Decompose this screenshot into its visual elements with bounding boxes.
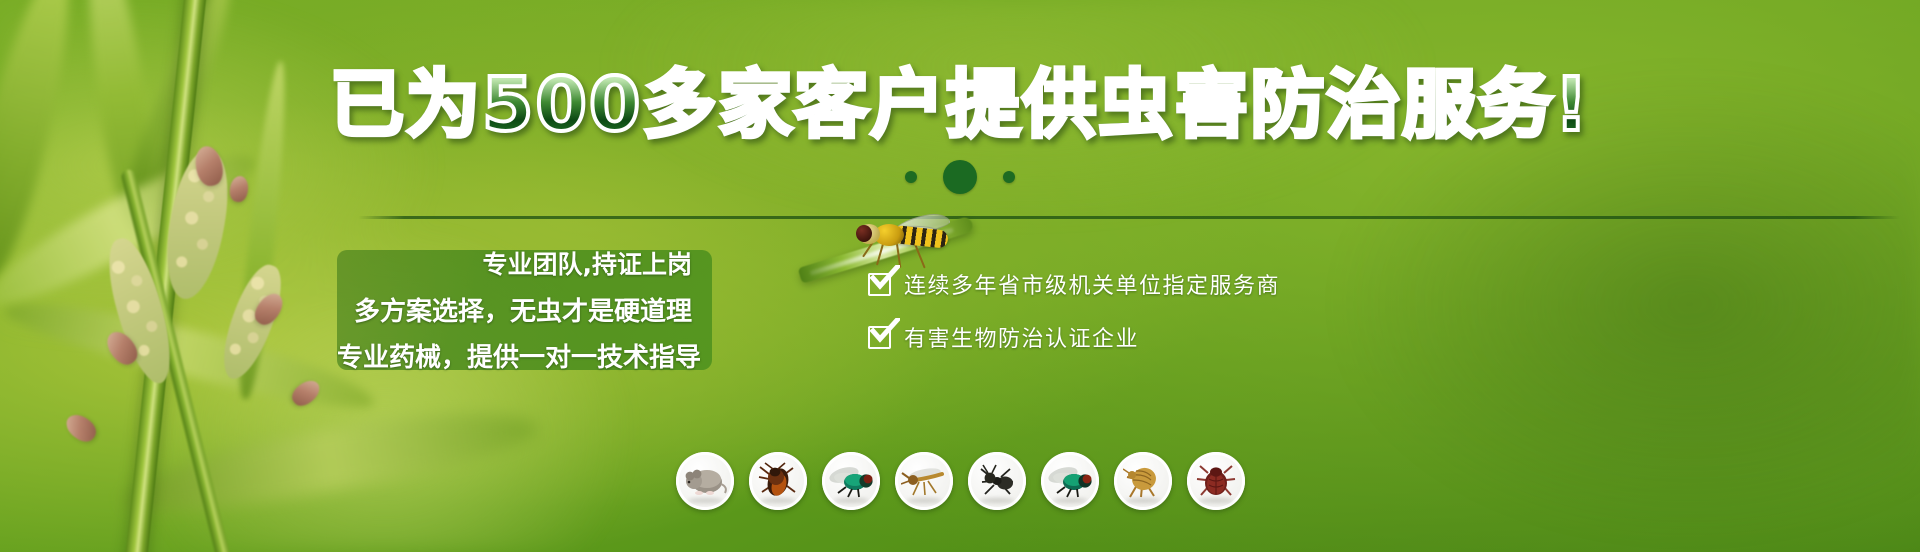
ant-icon bbox=[968, 452, 1026, 510]
blowfly-icon bbox=[1041, 452, 1099, 510]
checkbox-checked-icon bbox=[868, 326, 891, 349]
checklist-item: 有害生物防治认证企业 bbox=[868, 321, 1280, 353]
dot-small-right-icon bbox=[1003, 171, 1015, 183]
feature-checklist: 连续多年省市级机关单位指定服务商 有害生物防治认证企业 bbox=[868, 268, 1280, 374]
slogan-line-2: 多方案选择，无虫才是硬道理 bbox=[337, 291, 702, 328]
bedbug-icon bbox=[1187, 452, 1245, 510]
checklist-item-label: 有害生物防治认证企业 bbox=[904, 321, 1139, 353]
dot-large-center-icon bbox=[943, 160, 977, 194]
hoverfly-icon bbox=[852, 214, 956, 270]
checklist-item-label: 连续多年省市级机关单位指定服务商 bbox=[904, 268, 1280, 300]
cockroach-icon bbox=[749, 452, 807, 510]
mouse-icon bbox=[676, 452, 734, 510]
checklist-item: 连续多年省市级机关单位指定服务商 bbox=[868, 268, 1280, 300]
slogan-line-1: 专业团队,持证上岗 bbox=[337, 245, 702, 281]
banner-headline: 已为500多家客户提供虫害防治服务! bbox=[0, 68, 1920, 142]
horizontal-divider bbox=[358, 216, 1900, 219]
checkbox-checked-icon bbox=[868, 273, 891, 296]
flea-icon bbox=[1114, 452, 1172, 510]
slogan-line-3: 专业药械，提供一对一技术指导 bbox=[337, 337, 702, 374]
pest-icon-row bbox=[0, 452, 1920, 510]
promo-banner: 已为500多家客户提供虫害防治服务! 专业团队,持证上岗 多方案选择，无虫才是硬… bbox=[0, 0, 1920, 552]
fly-icon bbox=[822, 452, 880, 510]
dot-small-left-icon bbox=[905, 171, 917, 183]
slogan-panel: 专业团队,持证上岗 多方案选择，无虫才是硬道理 专业药械，提供一对一技术指导 bbox=[337, 250, 712, 370]
decorative-dots bbox=[0, 160, 1920, 194]
mosquito-icon bbox=[895, 452, 953, 510]
